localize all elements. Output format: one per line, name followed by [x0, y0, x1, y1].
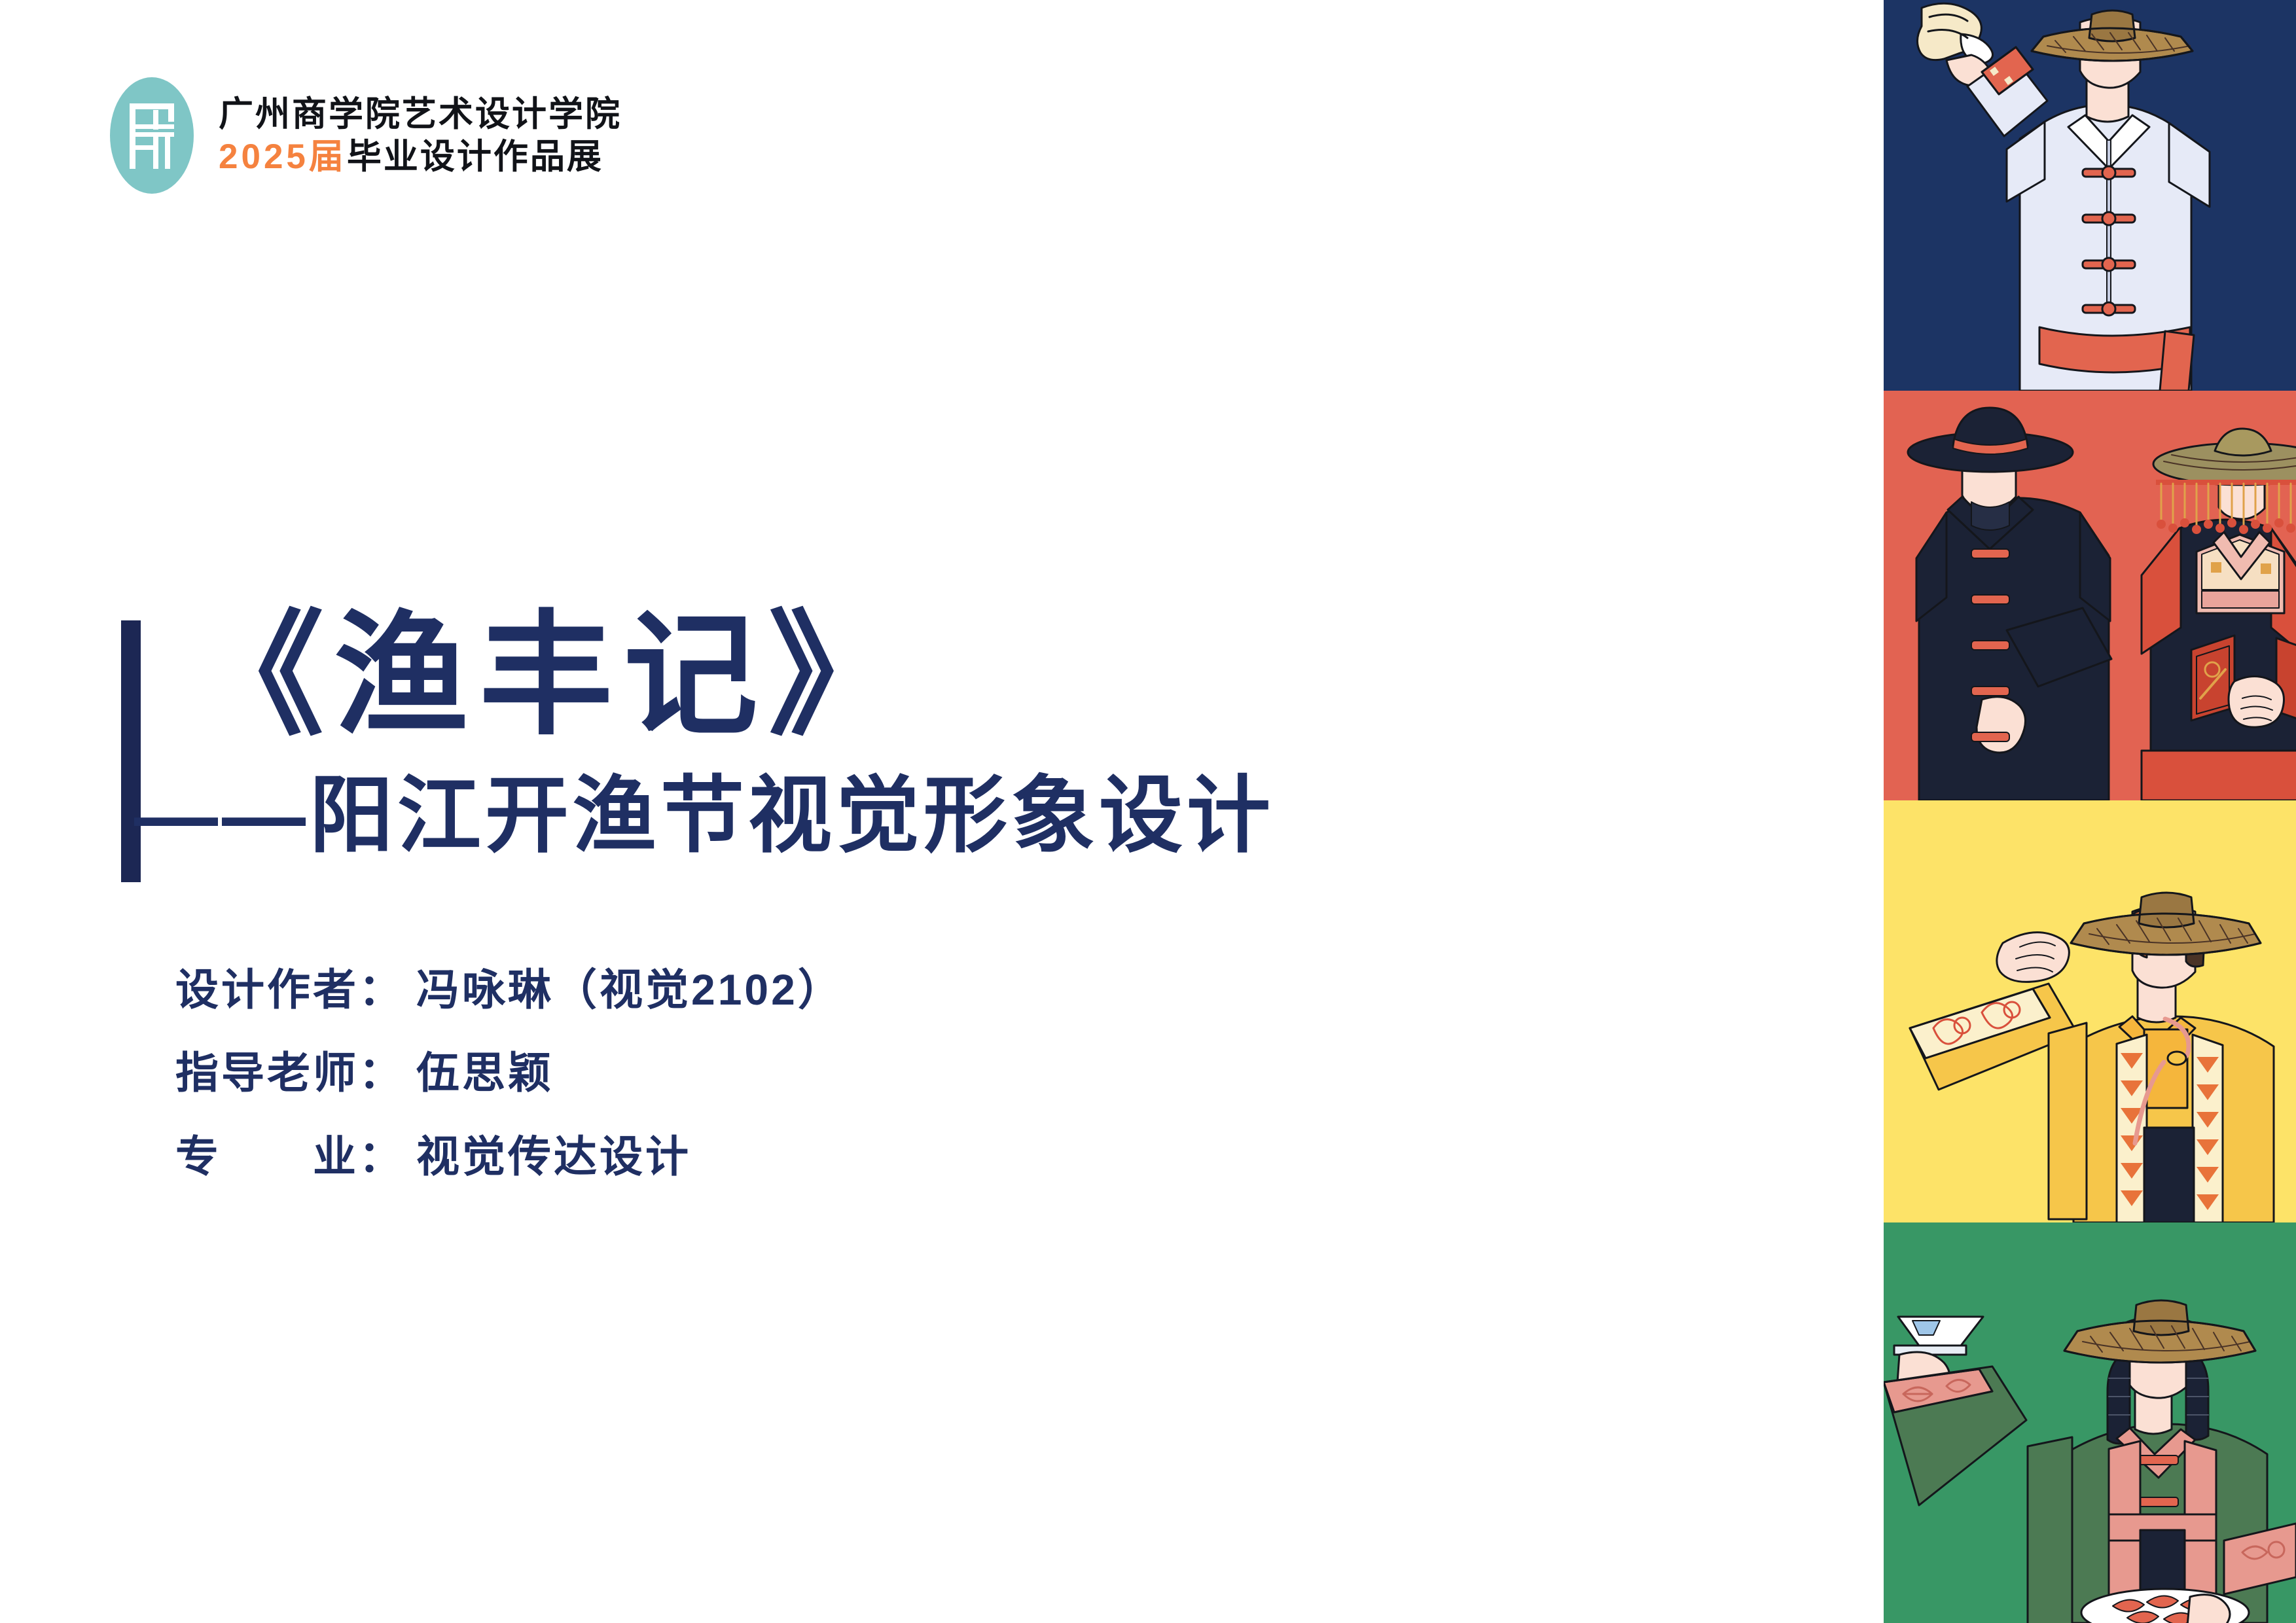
- credits-block: 设计作者： 冯咏琳（视觉2102） 指导老师： 伍思颖 专 业： 视觉传达设计: [175, 967, 844, 1179]
- institution-name: 广州商学院艺术设计学院: [219, 95, 622, 134]
- credit-label-major: 专 业：: [175, 1134, 404, 1179]
- brand-text: 广州商学院艺术设计学院 2025届毕业设计作品展: [219, 95, 622, 177]
- page-title: 《渔丰记》: [190, 609, 913, 743]
- credit-row: 指导老师： 伍思颖: [175, 1050, 844, 1096]
- exhibition-label: 毕业设计作品展: [347, 137, 603, 176]
- illustration-panel-fisherman-with-conch: [1884, 0, 2296, 391]
- year-badge: 2025届: [219, 137, 347, 176]
- credit-value-author: 冯咏琳（视觉2102）: [416, 967, 844, 1012]
- credit-row: 设计作者： 冯咏琳（视觉2102）: [175, 967, 844, 1012]
- credit-value-advisor: 伍思颖: [416, 1050, 554, 1096]
- poster-canvas: 广州商学院艺术设计学院 2025届毕业设计作品展 《渔丰记》 ——阳江开渔节视觉…: [0, 0, 2296, 1623]
- exhibition-name: 2025届毕业设计作品展: [219, 137, 622, 176]
- illustration-panel-woman-with-shrimp-plate: [1884, 1222, 2296, 1623]
- illustration-panel-wedding-couple: [1884, 391, 2296, 800]
- credit-label-advisor: 指导老师：: [175, 1050, 404, 1096]
- credit-value-major: 视觉传达设计: [416, 1134, 691, 1179]
- page-subtitle: ——阳江开渔节视觉形象设计: [134, 774, 1274, 858]
- seal-character-logo-icon: [110, 77, 194, 194]
- illustration-strip: [1884, 0, 2296, 1623]
- credit-row: 专 业： 视觉传达设计: [175, 1134, 844, 1179]
- brand-lockup: 广州商学院艺术设计学院 2025届毕业设计作品展: [110, 77, 622, 194]
- illustration-panel-woman-in-yellow-robe: [1884, 800, 2296, 1222]
- credit-label-author: 设计作者：: [175, 967, 404, 1012]
